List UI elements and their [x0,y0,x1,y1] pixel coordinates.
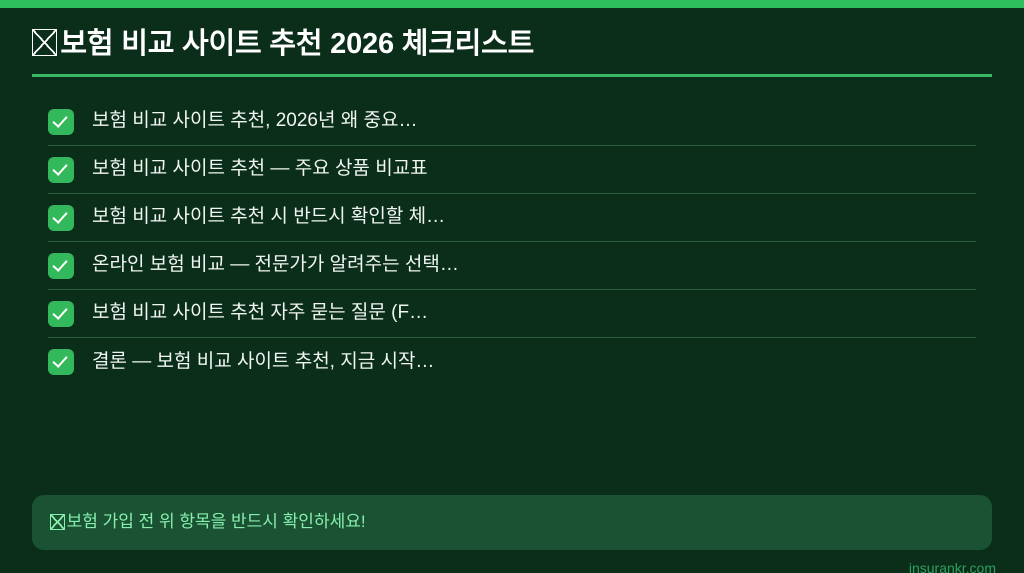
checklist-item[interactable]: 보험 비교 사이트 추천 시 반드시 확인할 체… [48,194,976,242]
checkmark-icon [52,112,67,128]
checkbox-checked-icon[interactable] [48,205,74,231]
page-header: 보험 비교 사이트 추천 2026 체크리스트 [32,26,992,62]
checkmark-icon [52,160,67,176]
checklist-item[interactable]: 보험 비교 사이트 추천 — 주요 상품 비교표 [48,146,976,194]
checklist-item[interactable]: 보험 비교 사이트 추천 자주 묻는 질문 (F… [48,290,976,338]
missing-glyph-icon [50,514,65,530]
checklist-item-label: 보험 비교 사이트 추천 시 반드시 확인할 체… [92,206,445,229]
checkbox-checked-icon[interactable] [48,157,74,183]
checklist-item-label: 보험 비교 사이트 추천 자주 묻는 질문 (F… [92,302,428,325]
header-divider [32,74,992,77]
site-watermark: insurankr.com [909,560,996,573]
footer-notice-text: 보험 가입 전 위 항목을 반드시 확인하세요! [67,512,366,531]
checklist-item-label: 결론 — 보험 비교 사이트 추천, 지금 시작… [92,351,434,374]
checkmark-icon [52,208,67,224]
page-title: 보험 비교 사이트 추천 2026 체크리스트 [32,26,992,62]
checkbox-checked-icon[interactable] [48,301,74,327]
checkbox-checked-icon[interactable] [48,253,74,279]
checkmark-icon [52,352,67,368]
checklist-item-label: 보험 비교 사이트 추천, 2026년 왜 중요… [92,110,417,133]
footer-notice-banner: 보험 가입 전 위 항목을 반드시 확인하세요! [32,495,992,550]
checklist-item[interactable]: 결론 — 보험 비교 사이트 추천, 지금 시작… [48,338,976,386]
checklist-item[interactable]: 온라인 보험 비교 — 전문가가 알려주는 선택… [48,242,976,290]
top-accent-bar [0,0,1024,8]
footer-notice: 보험 가입 전 위 항목을 반드시 확인하세요! [50,512,366,532]
checklist-item-label: 온라인 보험 비교 — 전문가가 알려주는 선택… [92,254,459,277]
checkmark-icon [52,256,67,272]
checklist: 보험 비교 사이트 추천, 2026년 왜 중요… 보험 비교 사이트 추천 —… [48,98,976,386]
checklist-item[interactable]: 보험 비교 사이트 추천, 2026년 왜 중요… [48,98,976,146]
checkbox-checked-icon[interactable] [48,349,74,375]
checkbox-checked-icon[interactable] [48,109,74,135]
checklist-item-label: 보험 비교 사이트 추천 — 주요 상품 비교표 [92,158,428,181]
checkmark-icon [52,304,67,320]
checklist-page: 보험 비교 사이트 추천 2026 체크리스트 보험 비교 사이트 추천, 20… [0,0,1024,573]
missing-glyph-icon [32,29,57,56]
page-title-text: 보험 비교 사이트 추천 2026 체크리스트 [60,28,534,60]
